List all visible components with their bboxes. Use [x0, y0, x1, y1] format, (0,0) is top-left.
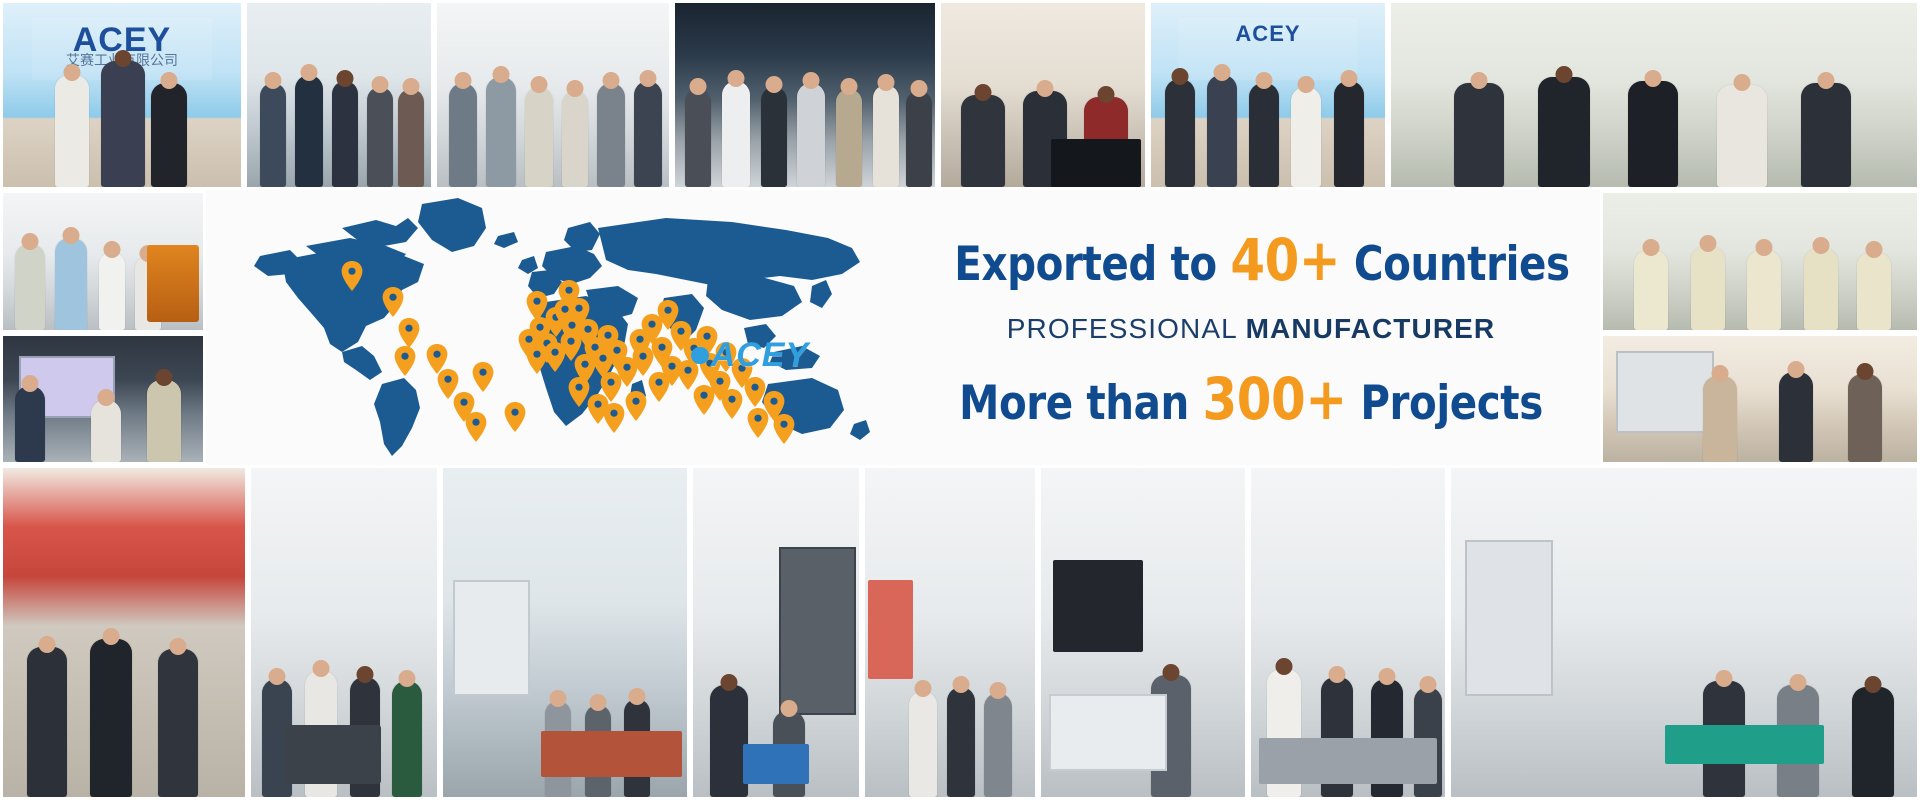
headline-line1-pre: Exported to	[954, 237, 1230, 292]
photo-equipment-demo-left	[0, 190, 206, 333]
acey-map-logo-dot	[691, 347, 709, 365]
headline-manufacturer-label: MANUFACTURER	[1246, 313, 1496, 344]
headline-line-2: PROFESSIONAL MANUFACTURER	[906, 313, 1596, 345]
photo-factory-floor-visitors	[244, 0, 434, 190]
photo-lab-thumbs-up-team	[1388, 0, 1920, 190]
acey-wall-logo-2: ACEY	[1235, 21, 1300, 47]
photo-expo-booth-team	[672, 0, 938, 190]
map-pin	[341, 261, 363, 291]
photo-red-banner-ceremony	[0, 465, 248, 800]
photo-machine-inspection-right	[1600, 333, 1920, 465]
map-pin	[657, 300, 679, 330]
photo-workshop-delegation	[434, 0, 672, 190]
center-content-card: ACEY Exported to 40+ Countries PROFESSIO…	[206, 190, 1600, 465]
map-pin	[648, 372, 670, 402]
headline-professional-label: PROFESSIONAL	[1007, 313, 1246, 344]
map-pin	[394, 346, 416, 376]
photo-workshop-four-men	[248, 465, 440, 800]
map-pin	[398, 318, 420, 348]
headline-line-3: More than 300+ Projects	[954, 369, 1547, 430]
map-pin	[747, 408, 769, 438]
headline-line3-pre: More than	[959, 376, 1202, 431]
map-pin-layer	[246, 194, 886, 464]
photo-conveyor-line-group	[1248, 465, 1448, 800]
map-pin	[465, 412, 487, 442]
world-map: ACEY	[246, 194, 886, 464]
photo-tray-handling-demo	[1038, 465, 1248, 800]
map-pin	[721, 389, 743, 419]
photo-office-meeting-three	[938, 0, 1148, 190]
photo-assembly-hall-tour	[862, 465, 1038, 800]
photo-showroom-client-group: ACEY	[1148, 0, 1388, 190]
map-pin	[773, 414, 795, 444]
headline-countries-count: 40+	[1230, 226, 1340, 294]
photo-screen-presentation-left	[0, 333, 206, 465]
headline-block: Exported to 40+ Countries PROFESSIONAL M…	[906, 230, 1596, 430]
photo-production-line-walkthrough	[440, 465, 690, 800]
headline-line1-post: Countries	[1340, 237, 1569, 292]
photo-acey-showroom-group: ACEY 艾赛工业有限公司	[0, 0, 244, 190]
map-pin	[382, 287, 404, 317]
people-group	[3, 47, 241, 187]
headline-projects-count: 300+	[1202, 365, 1346, 433]
map-pin	[693, 385, 715, 415]
acey-map-logo: ACEY	[691, 336, 809, 375]
map-pin	[603, 403, 625, 433]
map-pin	[625, 391, 647, 421]
map-pin	[472, 362, 494, 392]
map-pin	[504, 402, 526, 432]
headline-line3-post: Projects	[1347, 376, 1543, 431]
photo-equipment-training	[690, 465, 862, 800]
headline-line-1: Exported to 40+ Countries	[954, 230, 1547, 291]
photo-cleanroom-staff-right	[1600, 190, 1920, 333]
photo-bench-testing-team	[1448, 465, 1920, 800]
acey-map-logo-text: ACEY	[711, 336, 809, 374]
marketing-banner: ACEY 艾赛工业有限公司	[0, 0, 1920, 800]
